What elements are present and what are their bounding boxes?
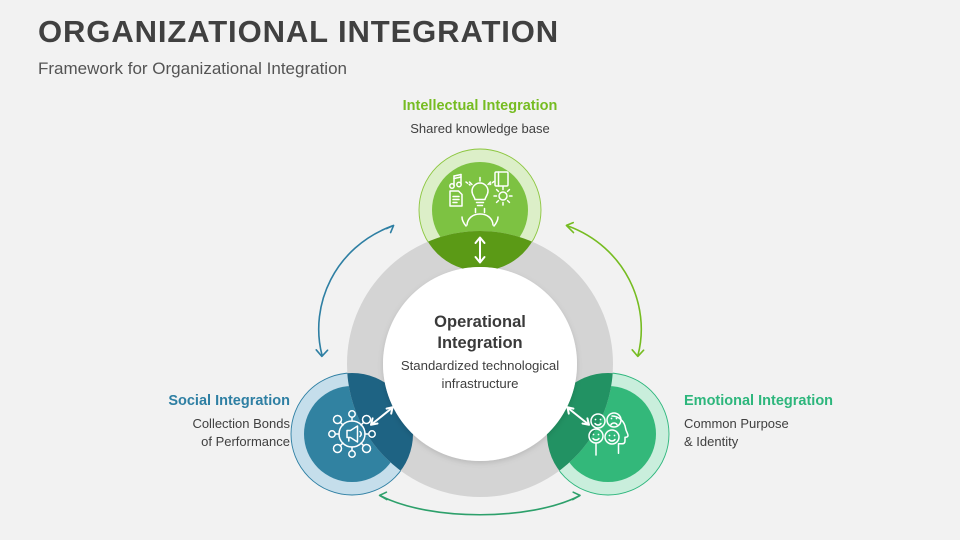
- center-label: Operational Integration Standardized tec…: [378, 312, 582, 392]
- center-desc: Standardized technological infrastructur…: [378, 357, 582, 392]
- center-title-line2: Integration: [378, 333, 582, 354]
- center-title: Operational Integration: [378, 312, 582, 354]
- emotional-desc: Common Purpose & Identity: [684, 415, 924, 451]
- center-title-line1: Operational: [378, 312, 582, 333]
- emotional-desc-line1: Common Purpose: [684, 415, 924, 433]
- intellectual-title: Intellectual Integration: [330, 97, 630, 115]
- integration-cycle-diagram: [0, 0, 960, 540]
- diagram-stage: Intellectual Integration Shared knowledg…: [0, 0, 960, 540]
- emotional-desc-line2: & Identity: [684, 433, 924, 451]
- center-desc-line1: Standardized technological: [378, 357, 582, 374]
- social-title: Social Integration: [42, 392, 290, 410]
- label-social: Social Integration Collection Bonds of P…: [42, 392, 290, 451]
- social-desc-line2: of Performance: [42, 433, 290, 451]
- center-desc-line2: infrastructure: [378, 375, 582, 392]
- label-emotional: Emotional Integration Common Purpose & I…: [684, 392, 924, 451]
- social-desc-line1: Collection Bonds: [42, 415, 290, 433]
- emotional-title: Emotional Integration: [684, 392, 924, 410]
- intellectual-desc: Shared knowledge base: [330, 120, 630, 138]
- social-desc: Collection Bonds of Performance: [42, 415, 290, 451]
- label-intellectual: Intellectual Integration Shared knowledg…: [330, 97, 630, 138]
